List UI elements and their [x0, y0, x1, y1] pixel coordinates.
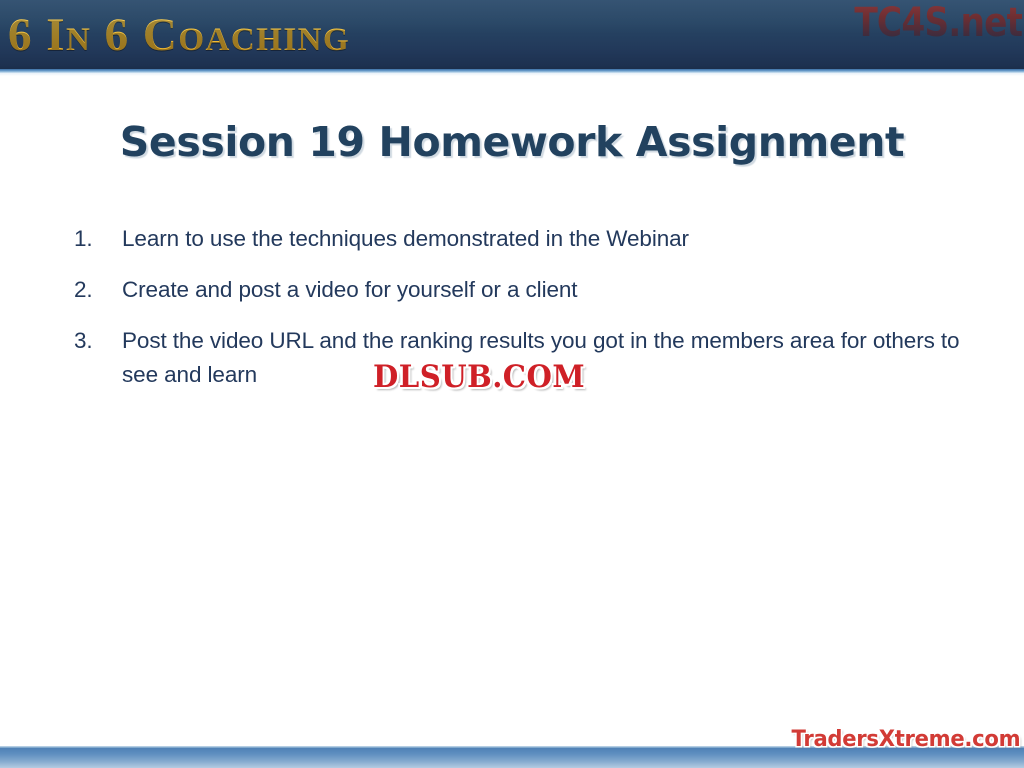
list-item: 1. Learn to use the techniques demonstra… — [74, 222, 964, 256]
header-divider-highlight — [0, 73, 1024, 76]
list-item-text: Create and post a video for yourself or … — [122, 273, 964, 307]
list-item-text: Learn to use the techniques demonstrated… — [122, 222, 964, 256]
brand-title: 6 In 6 Coaching — [8, 6, 350, 64]
slide-canvas: 6 In 6 Coaching TC4S.net Session 19 Home… — [0, 0, 1024, 768]
list-item-number: 1. — [74, 222, 122, 256]
list-item-number: 3. — [74, 324, 122, 358]
list-item: 2. Create and post a video for yourself … — [74, 273, 964, 307]
page-title: Session 19 Homework Assignment — [0, 116, 1024, 168]
list-item-number: 2. — [74, 273, 122, 307]
dlsub-watermark: DLSUB.COM — [373, 360, 585, 394]
tradersxtreme-watermark: TradersXtreme.com — [791, 726, 1020, 754]
tc4s-site-logo: TC4S.net — [854, 0, 1022, 48]
header-band: 6 In 6 Coaching TC4S.net — [0, 0, 1024, 69]
